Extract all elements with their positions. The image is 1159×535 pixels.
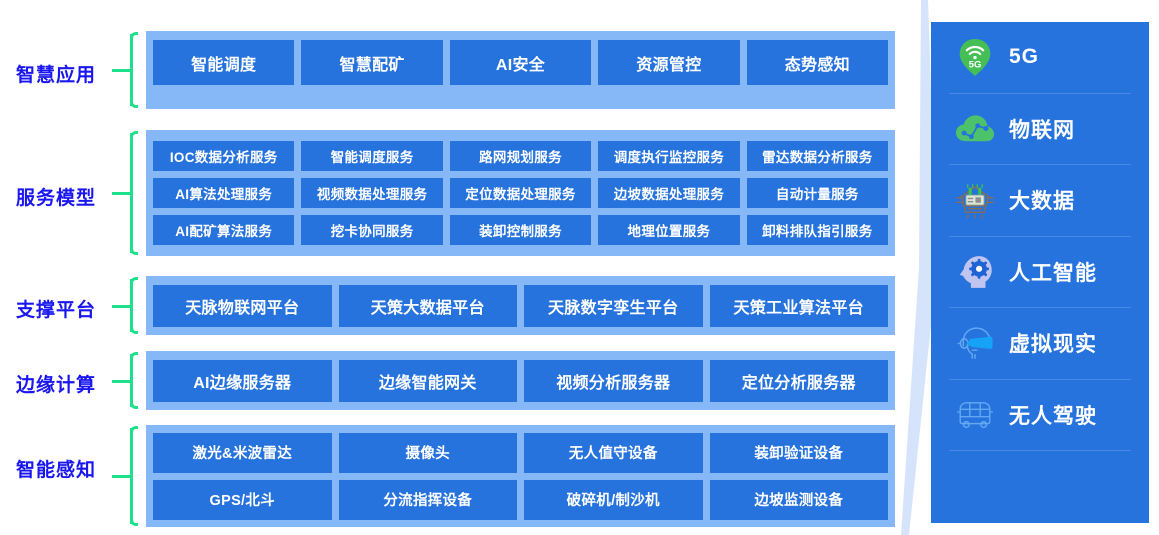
bracket-stem <box>112 305 131 308</box>
layer-card[interactable]: 地理位置服务 <box>598 215 739 245</box>
layer-card[interactable]: 定位分析服务器 <box>710 360 889 402</box>
layer-card[interactable]: 边缘智能网关 <box>339 360 518 402</box>
layer-card[interactable]: 天脉数字孪生平台 <box>524 285 703 327</box>
bracket-corner-bottom <box>130 518 138 526</box>
sidebar-item-label: 物联网 <box>1009 114 1075 144</box>
layer-card[interactable]: 智慧配矿 <box>301 40 442 85</box>
layer-card[interactable]: 调度执行监控服务 <box>598 141 739 171</box>
sidebar-item-label: 人工智能 <box>1009 257 1097 287</box>
bracket-corner-bottom <box>130 247 138 255</box>
layer-card[interactable]: 智能调度服务 <box>301 141 442 171</box>
technology-sidebar: 5G 5G 物联网 大数据 <box>931 22 1149 523</box>
layer-card[interactable]: 无人值守设备 <box>524 433 703 473</box>
bracket-edge-computing <box>121 351 143 410</box>
layer-card[interactable]: 资源管控 <box>598 40 739 85</box>
layer-card[interactable]: 视频数据处理服务 <box>301 178 442 208</box>
bracket-corner-top <box>130 32 138 40</box>
sidebar-item-ai-brain-gear[interactable]: 人工智能 <box>949 237 1131 309</box>
ai-brain-gear-icon <box>955 252 995 292</box>
layer-label-smart-sensing: 智能感知 <box>0 455 112 482</box>
iot-cloud-icon <box>955 109 995 149</box>
bracket-support-platform <box>121 276 143 335</box>
layer-card[interactable]: 自动计量服务 <box>747 178 888 208</box>
layer-card[interactable]: AI算法处理服务 <box>153 178 294 208</box>
bracket-smart-application <box>121 31 143 109</box>
layer-panel-support-platform: 天脉物联网平台天策大数据平台天脉数字孪生平台天策工业算法平台 <box>146 276 895 335</box>
layer-card[interactable]: AI安全 <box>450 40 591 85</box>
sidebar-item-label: 无人驾驶 <box>1009 400 1097 430</box>
layer-panel-smart-sensing: 激光&米波雷达摄像头无人值守设备装卸验证设备GPS/北斗分流指挥设备破碎机/制沙… <box>146 425 895 527</box>
layer-card[interactable]: 挖卡协同服务 <box>301 215 442 245</box>
bracket-corner-top <box>130 426 138 434</box>
layer-card[interactable]: AI配矿算法服务 <box>153 215 294 245</box>
layer-card[interactable]: 边坡数据处理服务 <box>598 178 739 208</box>
layer-label-support-platform: 支撑平台 <box>0 295 112 322</box>
sidebar-item-label: 大数据 <box>1009 185 1075 215</box>
layer-card[interactable]: GPS/北斗 <box>153 480 332 520</box>
layer-card[interactable]: 装卸验证设备 <box>710 433 889 473</box>
layer-card[interactable]: 天脉物联网平台 <box>153 285 332 327</box>
big-data-chip-icon <box>955 180 995 220</box>
layer-card[interactable]: 智能调度 <box>153 40 294 85</box>
sidebar-item-label: 5G <box>1009 45 1039 69</box>
layer-label-edge-computing: 边缘计算 <box>0 370 112 397</box>
5g-pin-icon: 5G <box>955 37 995 77</box>
layer-card[interactable]: 破碎机/制沙机 <box>524 480 703 520</box>
layer-label-smart-application: 智慧应用 <box>0 60 112 87</box>
bracket-stem <box>112 475 131 478</box>
layer-card[interactable]: AI边缘服务器 <box>153 360 332 402</box>
bracket-stem <box>112 69 131 72</box>
sidebar-item-big-data-chip[interactable]: 大数据 <box>949 165 1131 237</box>
layer-card[interactable]: 摄像头 <box>339 433 518 473</box>
bracket-service-model <box>121 130 143 256</box>
sidebar-item-5g-pin[interactable]: 5G 5G <box>949 22 1131 94</box>
sidebar-item-iot-cloud[interactable]: 物联网 <box>949 94 1131 166</box>
layer-row: AI边缘服务器边缘智能网关视频分析服务器定位分析服务器 <box>153 360 888 402</box>
bracket-stem <box>112 380 131 383</box>
bracket-corner-top <box>130 277 138 285</box>
layer-row: AI配矿算法服务挖卡协同服务装卸控制服务地理位置服务卸料排队指引服务 <box>153 215 888 245</box>
svg-text:5G: 5G <box>969 60 982 71</box>
layer-row: 智能调度智慧配矿AI安全资源管控态势感知 <box>153 40 888 85</box>
layer-card[interactable]: 态势感知 <box>747 40 888 85</box>
vr-headset-icon <box>955 323 995 363</box>
layer-row: 天脉物联网平台天策大数据平台天脉数字孪生平台天策工业算法平台 <box>153 285 888 327</box>
layer-card[interactable]: 定位数据处理服务 <box>450 178 591 208</box>
bracket-corner-bottom <box>130 100 138 108</box>
layer-row: 激光&米波雷达摄像头无人值守设备装卸验证设备 <box>153 433 888 473</box>
bracket-smart-sensing <box>121 425 143 527</box>
layer-card[interactable]: 天策工业算法平台 <box>710 285 889 327</box>
bracket-corner-top <box>130 131 138 139</box>
bracket-stem <box>112 192 131 195</box>
layer-card[interactable]: 雷达数据分析服务 <box>747 141 888 171</box>
sidebar-item-autonomous-bus[interactable]: 无人驾驶 <box>949 380 1131 452</box>
bracket-corner-bottom <box>130 326 138 334</box>
layer-card[interactable]: 视频分析服务器 <box>524 360 703 402</box>
bracket-corner-bottom <box>130 401 138 409</box>
bracket-corner-top <box>130 352 138 360</box>
layer-card[interactable]: 卸料排队指引服务 <box>747 215 888 245</box>
layer-row: IOC数据分析服务智能调度服务路网规划服务调度执行监控服务雷达数据分析服务 <box>153 141 888 171</box>
layer-card[interactable]: 边坡监测设备 <box>710 480 889 520</box>
autonomous-bus-icon <box>955 395 995 435</box>
layer-row: AI算法处理服务视频数据处理服务定位数据处理服务边坡数据处理服务自动计量服务 <box>153 178 888 208</box>
sidebar-item-label: 虚拟现实 <box>1009 328 1097 358</box>
layer-panel-smart-application: 智能调度智慧配矿AI安全资源管控态势感知 <box>146 31 895 109</box>
layer-card[interactable]: 天策大数据平台 <box>339 285 518 327</box>
layer-row: GPS/北斗分流指挥设备破碎机/制沙机边坡监测设备 <box>153 480 888 520</box>
layer-panel-service-model: IOC数据分析服务智能调度服务路网规划服务调度执行监控服务雷达数据分析服务AI算… <box>146 130 895 256</box>
layer-card[interactable]: 分流指挥设备 <box>339 480 518 520</box>
layer-panel-edge-computing: AI边缘服务器边缘智能网关视频分析服务器定位分析服务器 <box>146 351 895 410</box>
layer-card[interactable]: IOC数据分析服务 <box>153 141 294 171</box>
layer-card[interactable]: 装卸控制服务 <box>450 215 591 245</box>
layer-card[interactable]: 路网规划服务 <box>450 141 591 171</box>
sidebar-item-vr-headset[interactable]: 虚拟现实 <box>949 308 1131 380</box>
layer-card[interactable]: 激光&米波雷达 <box>153 433 332 473</box>
layer-label-service-model: 服务模型 <box>0 183 112 210</box>
